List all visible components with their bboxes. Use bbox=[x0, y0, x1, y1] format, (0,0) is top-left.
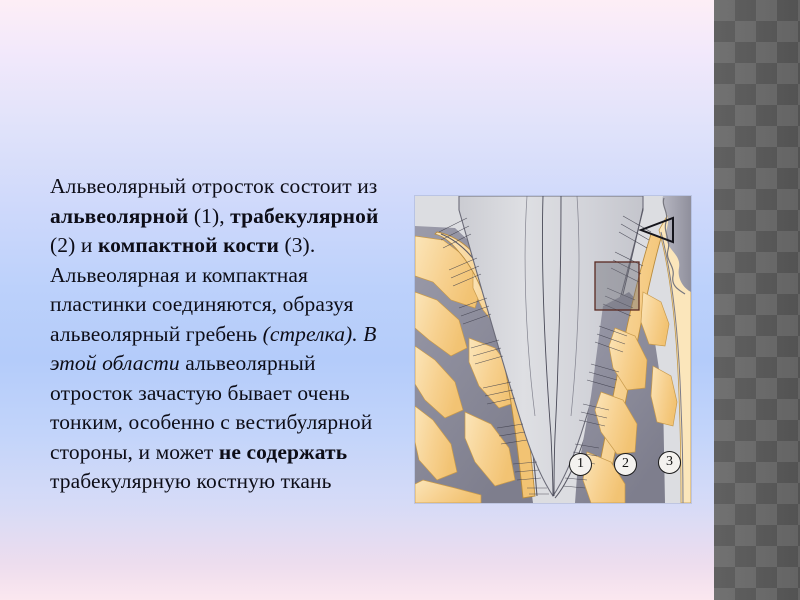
text-bold-alveolar: альвеолярной bbox=[50, 204, 188, 228]
figure-label-3: 3 bbox=[658, 451, 681, 474]
figure-label-2: 2 bbox=[614, 453, 637, 476]
figure-label-1: 1 bbox=[569, 453, 592, 476]
slide-body-text: Альвеолярный отросток состоит из альвеол… bbox=[50, 172, 402, 497]
decorative-checker-band bbox=[714, 0, 800, 600]
text-bold-trabecular: трабекулярной bbox=[230, 204, 378, 228]
text-bold-compact: компактной кости bbox=[98, 233, 279, 257]
alveolar-process-illustration bbox=[415, 196, 691, 503]
text-segment-1: Альвеолярный отросток состоит из bbox=[50, 174, 377, 198]
anatomical-figure: 1 2 3 bbox=[415, 196, 691, 503]
text-segment-6: трабекулярную костную ткань bbox=[50, 469, 332, 493]
text-segment-3: (2) и bbox=[50, 233, 98, 257]
text-bold-ne-soderzhat: не содержать bbox=[219, 440, 347, 464]
slide-canvas: Альвеолярный отросток состоит из альвеол… bbox=[0, 0, 800, 600]
highlight-rectangle bbox=[595, 262, 639, 310]
text-segment-2: (1), bbox=[188, 204, 230, 228]
